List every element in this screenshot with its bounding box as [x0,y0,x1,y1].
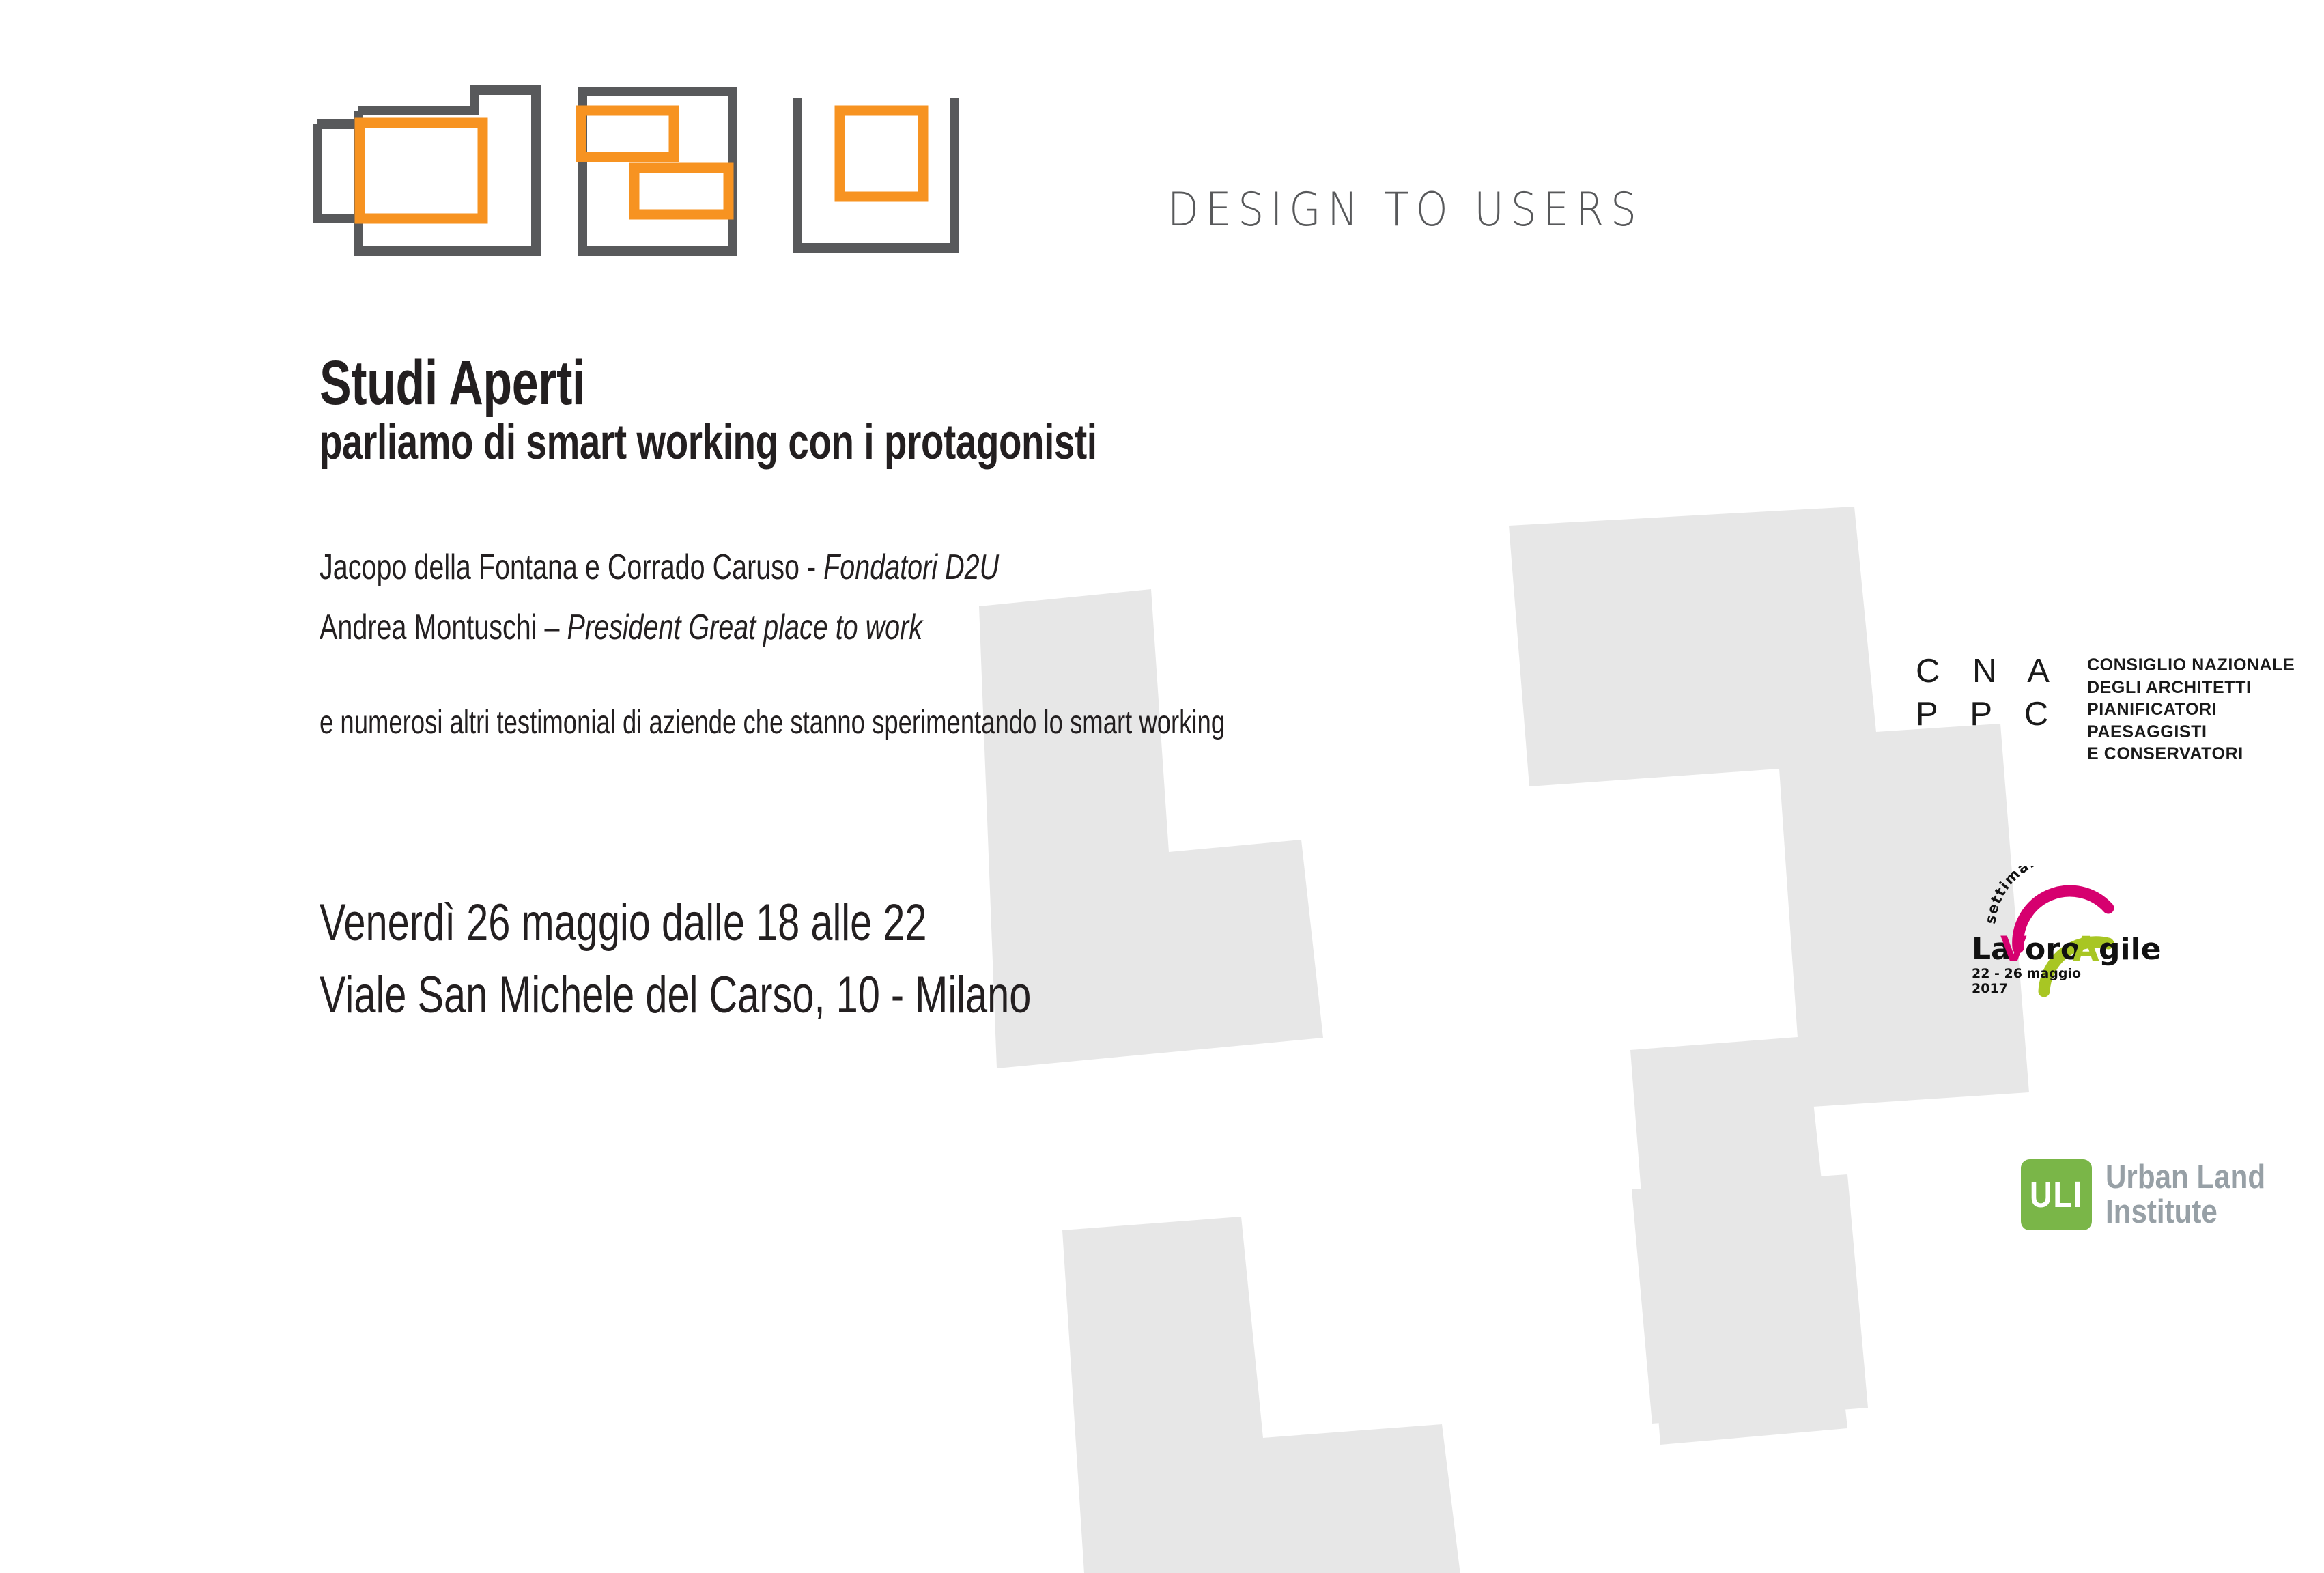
cnappc-desc-line: PIANIFICATORI [2087,698,2295,721]
event-datetime: Venerdì 26 maggio dalle 18 alle 22 [320,897,1487,949]
lavoro-dates: 22 - 26 maggio [1972,966,2081,981]
lavoro-word-v: V [2000,929,2027,969]
lavoro-wordmark: La V oro A gile [1972,929,2162,969]
uli-name: Urban Land Institute [2106,1160,2265,1230]
brand-wordmark: DESIGN TO USERS [1167,183,1643,237]
cnappc-desc-line: PAESAGGISTI [2087,721,2295,743]
speaker-separator: - [799,548,823,587]
d2u-logo-mark [311,82,1082,259]
bg-shape-4 [1630,1036,1847,1445]
bg-shape-3 [1062,1217,1466,1573]
uli-badge-label: ULI [2026,1176,2086,1213]
speaker-names: Jacopo della Fontana e Corrado Caruso [320,548,799,587]
logo-glyph-d [317,90,536,251]
speaker-names: Andrea Montuschi [320,608,537,647]
cnappc-desc-line: DEGLI ARCHITETTI [2087,677,2295,699]
speaker-row: Andrea Montuschi – President Great place… [320,610,1487,645]
partner-logo-uli: ULI Urban Land Institute [2021,1159,2291,1230]
uli-badge: ULI [2021,1159,2092,1230]
speaker-separator: – [537,608,567,647]
lavoro-word-a: A [2073,929,2099,969]
speaker-list: Jacopo della Fontana e Corrado Caruso - … [320,550,1856,645]
cnappc-acronym-line1: C N A [1916,653,2061,690]
cnappc-desc-line: CONSIGLIO NAZIONALE [2087,654,2295,677]
logo-glyph-u [797,98,954,248]
speaker-role: President Great place to work [567,608,922,647]
uli-name-line1: Urban Land [2106,1160,2265,1195]
partner-logo-lavoro-agile: settimana del La V oro A gile 22 - 26 ma… [1965,866,2190,1002]
cnappc-acronym: C N AP P C [1916,650,2061,735]
page-subtitle: parliamo di smart working con i protagon… [320,417,1487,469]
speaker-row: Jacopo della Fontana e Corrado Caruso - … [320,550,1487,585]
bg-shape-5 [1632,1174,1868,1424]
testimonial-note: e numerosi altri testimonial di aziende … [320,704,1487,741]
cnappc-description: CONSIGLIO NAZIONALE DEGLI ARCHITETTI PIA… [2087,654,2295,765]
logo-glyph-2 [581,91,733,251]
cnappc-desc-line: E CONSERVATORI [2087,743,2295,765]
page-title: Studi Aperti [320,352,1487,414]
lavoro-word-gile: gile [2099,932,2162,967]
event-address: Viale San Michele del Carso, 10 - Milano [320,969,1487,1021]
uli-name-line2: Institute [2106,1195,2265,1230]
partner-logo-cnappc: C N AP P C CONSIGLIO NAZIONALE DEGLI ARC… [1916,650,2271,746]
lavoro-year: 2017 [1972,981,2008,996]
speaker-role: Fondatori D2U [823,548,999,587]
event-when-where: Venerdì 26 maggio dalle 18 alle 22 Viale… [320,897,1856,1021]
event-text-column: Studi Aperti parliamo di smart working c… [320,352,1856,1042]
cnappc-acronym-line2: P P C [1916,696,2060,733]
